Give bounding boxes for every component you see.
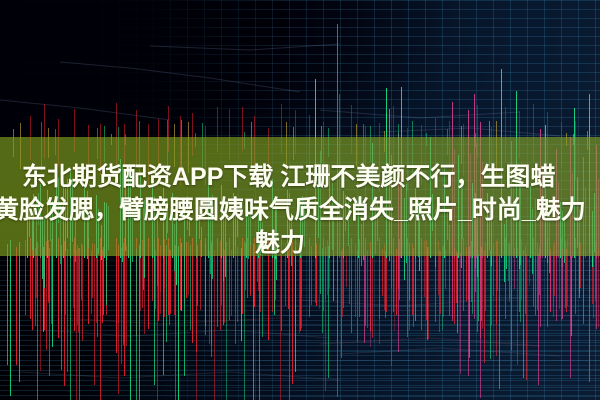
chart-bar	[82, 245, 83, 341]
chart-bar	[178, 246, 179, 400]
chart-bar	[372, 248, 373, 338]
chart-bar	[535, 251, 536, 315]
chart-bar	[126, 246, 127, 346]
chart-bar	[301, 252, 302, 329]
chart-bar	[70, 242, 71, 400]
chart-bar	[523, 250, 524, 378]
chart-bar	[43, 247, 44, 333]
chart-bar	[166, 245, 167, 341]
chart-bar	[262, 244, 263, 337]
chart-bar	[32, 247, 33, 330]
chart-bar	[529, 255, 530, 285]
chart-bar	[244, 241, 245, 400]
chart-bar	[427, 247, 428, 340]
chart-bar	[322, 248, 323, 334]
chart-bar	[499, 255, 500, 389]
chart-bar	[155, 250, 156, 309]
chart-bar	[235, 247, 236, 344]
chart-bar	[370, 250, 371, 347]
chart-bar	[241, 248, 242, 341]
chart-bar	[7, 244, 8, 365]
chart-screenshot: 东北期货配资APP下载 江珊不美颜不行，生图蜡 黄脸发腮，臂膀腰圆姨味气质全消失…	[0, 0, 600, 400]
chart-bar	[175, 245, 176, 400]
chart-bar	[272, 250, 273, 312]
chart-bar	[211, 241, 212, 357]
chart-bar	[496, 255, 497, 356]
chart-bar	[490, 250, 491, 359]
chart-bar	[357, 250, 358, 342]
chart-bar	[221, 250, 222, 305]
chart-bar	[583, 248, 584, 303]
chart-bar	[593, 251, 594, 318]
chart-bar	[454, 248, 455, 324]
chart-bar	[52, 243, 53, 347]
chart-bar	[139, 246, 140, 400]
chart-bar	[460, 253, 461, 374]
chart-bar	[49, 248, 50, 376]
chart-bar	[97, 248, 98, 337]
chart-bar	[170, 250, 171, 314]
chart-bar	[237, 247, 238, 322]
chart-bar	[385, 251, 386, 318]
chart-bar	[526, 254, 527, 381]
chart-bar	[76, 250, 77, 400]
chart-bar	[394, 255, 395, 332]
chart-bar	[46, 241, 47, 350]
chart-bar	[478, 254, 479, 321]
chart-bar	[367, 250, 368, 328]
chart-bar	[88, 248, 89, 306]
chart-bar	[452, 258, 453, 321]
chart-bar	[292, 241, 293, 385]
chart-bar	[428, 247, 429, 339]
chart-bar	[67, 249, 68, 372]
chart-bar	[364, 255, 365, 344]
chart-bar	[571, 256, 572, 336]
chart-bar	[540, 258, 541, 327]
chart-bar	[231, 250, 232, 316]
chart-bar	[391, 254, 392, 366]
chart-bar	[325, 255, 326, 390]
chart-bar	[253, 244, 254, 400]
caption-block: 东北期货配资APP下载 江珊不美颜不行，生图蜡 黄脸发腮，臂膀腰圆姨味气质全消失…	[0, 137, 600, 256]
caption-line-2: 黄脸发腮，臂膀腰圆姨味气质全消失_照片_时尚_魅力	[0, 190, 586, 226]
chart-bar	[382, 249, 383, 296]
chart-bar	[396, 249, 397, 315]
chart-bar	[469, 247, 470, 358]
chart-bar	[169, 249, 170, 325]
chart-bar	[64, 241, 65, 385]
chart-bar	[511, 248, 512, 371]
chart-bar	[553, 252, 554, 306]
chart-bar	[130, 240, 131, 400]
chart-bar	[94, 244, 95, 385]
chart-bar	[596, 258, 597, 329]
chart-bar	[259, 249, 260, 400]
chart-bar	[415, 251, 416, 321]
chart-bar	[295, 247, 296, 372]
chart-bar	[124, 243, 125, 376]
chart-bar	[121, 248, 122, 364]
chart-bar	[346, 255, 347, 287]
chart-bar	[442, 247, 443, 330]
chart-bar	[163, 241, 164, 375]
chart-bar	[184, 249, 185, 377]
chart-bar	[190, 245, 191, 330]
chart-bar	[79, 248, 80, 400]
chart-bar	[118, 245, 119, 394]
chart-bar	[103, 247, 104, 315]
chart-bar	[37, 242, 38, 400]
chart-bar	[398, 258, 399, 352]
chart-bar	[328, 246, 329, 378]
caption-line-3: 魅力	[255, 223, 305, 256]
chart-bar	[274, 249, 275, 316]
chart-bar	[289, 240, 290, 400]
chart-bar	[556, 258, 557, 321]
chart-bar	[440, 251, 441, 314]
chart-bar	[589, 253, 590, 382]
chart-bar	[559, 255, 560, 309]
chart-bar	[439, 250, 440, 332]
chart-bar	[16, 247, 17, 365]
chart-bar	[214, 250, 215, 400]
chart-bar	[157, 241, 158, 400]
chart-bar	[136, 249, 137, 400]
chart-bar	[517, 248, 518, 365]
chart-bar	[40, 247, 41, 371]
chart-bar	[475, 251, 476, 291]
chart-bar	[472, 254, 473, 314]
chart-bar	[10, 240, 11, 396]
chart-bar	[409, 249, 410, 330]
chart-bar	[520, 251, 521, 322]
chart-bar	[457, 253, 458, 332]
caption-line-1: 东北期货配资APP下载 江珊不美颜不行，生图蜡	[22, 157, 555, 193]
chart-bar	[413, 248, 414, 327]
chart-bar	[484, 250, 485, 363]
chart-bar	[550, 252, 551, 311]
chart-bar	[223, 248, 224, 326]
chart-bar	[379, 254, 380, 345]
chart-bar	[196, 243, 197, 400]
chart-bar	[100, 249, 101, 400]
chart-bar	[226, 242, 227, 400]
chart-bar	[598, 248, 599, 327]
chart-bar	[19, 242, 20, 382]
chart-bar	[280, 250, 281, 400]
chart-bar	[538, 254, 539, 385]
chart-bar	[562, 249, 563, 319]
chart-bar	[481, 247, 482, 321]
chart-bar	[154, 249, 155, 385]
chart-bar	[61, 245, 62, 370]
